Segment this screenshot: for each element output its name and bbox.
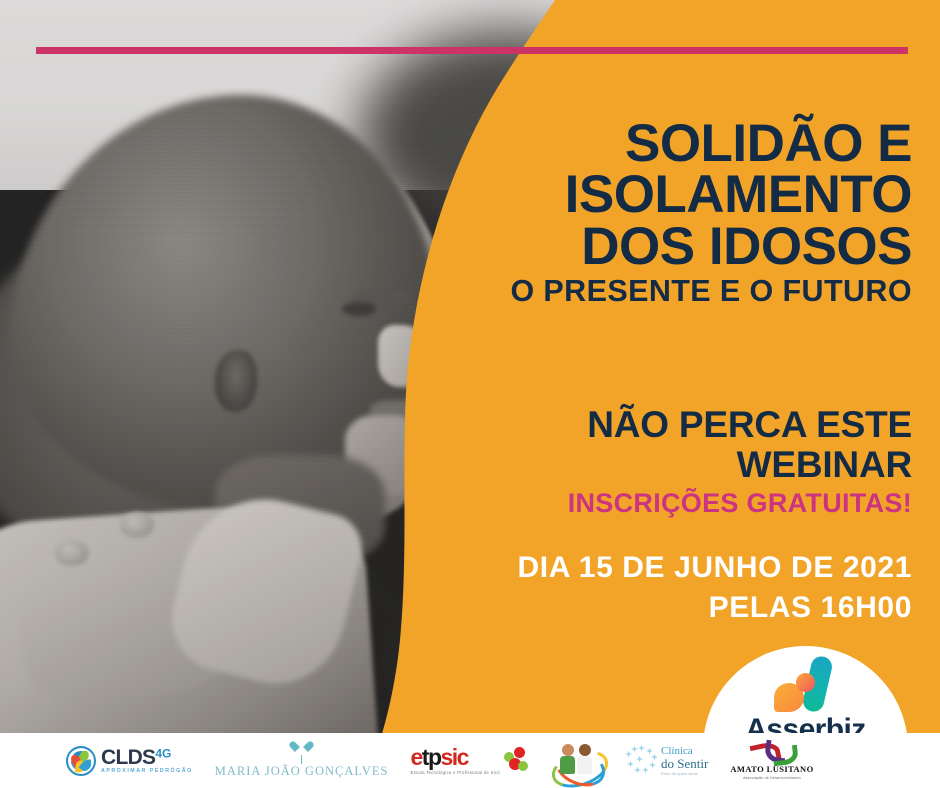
clds4g-name: CLDS	[101, 746, 155, 769]
etpsic-part-3: sic	[441, 744, 468, 770]
amato-lusitano-name: AMATO LUSITANO	[730, 764, 813, 774]
partner-logo-two-kids	[551, 741, 603, 781]
etpsic-part-1: e	[410, 744, 421, 770]
event-date: DIA 15 DE JUNHO DE 2021	[392, 548, 912, 588]
partner-logo-etpsic: etpsic Escola Tecnológica e Profissional…	[410, 746, 529, 775]
heart-stem-icon	[301, 755, 303, 764]
free-registration-text: INSCRIÇÕES GRATUITAS!	[392, 488, 912, 519]
partner-logos: CLDS4G APROXIMAR PEDRÓGÃO MARIA JOÃO GON…	[0, 733, 814, 788]
webinar-poster: SOLIDÃO E ISOLAMENTO DOS IDOSOS O PRESEN…	[0, 0, 940, 788]
clinica-birds-icon	[625, 745, 659, 777]
headline-line-3: DOS IDOSOS	[392, 221, 912, 272]
partner-logo-clinica-do-sentir: Clínica do Sentir Perto de quem sente	[625, 745, 708, 777]
partner-logo-clds4g: CLDS4G APROXIMAR PEDRÓGÃO	[66, 746, 193, 776]
etpsic-part-2: tp	[422, 744, 441, 770]
clinica-text: Clínica do Sentir Perto de quem sente	[661, 746, 708, 776]
amato-ribbon-icon	[751, 741, 793, 763]
partner-logo-maria-joao-goncalves: MARIA JOÃO GONÇALVES	[215, 742, 389, 779]
maria-joao-goncalves-name: MARIA JOÃO GONÇALVES	[215, 764, 389, 779]
kid-figure-left-icon	[560, 744, 576, 774]
headline-block: SOLIDÃO E ISOLAMENTO DOS IDOSOS O PRESEN…	[392, 118, 912, 307]
headline-line-1: SOLIDÃO E	[392, 118, 912, 169]
asserbiz-mark-icon	[768, 656, 844, 712]
asserbiz-dot-shape	[796, 673, 815, 692]
clds4g-circle-icon	[66, 746, 96, 776]
clds4g-petals-icon	[72, 751, 91, 770]
partner-logo-amato-lusitano: AMATO LUSITANO Associação de Desenvolvim…	[730, 741, 813, 780]
kid-figure-right-icon	[577, 744, 593, 774]
callout-line-2: WEBINAR	[392, 445, 912, 485]
clinica-line-1: Clínica	[661, 746, 708, 757]
callout-line-1: NÃO PERCA ESTE	[392, 405, 912, 445]
clds4g-suffix: 4G	[155, 747, 171, 761]
etpsic-subtitle: Escola Tecnológica e Profissional de Sic…	[410, 771, 500, 775]
callout-block: NÃO PERCA ESTE WEBINAR INSCRIÇÕES GRATUI…	[392, 405, 912, 519]
amato-lusitano-subtitle: Associação de Desenvolvimento	[743, 776, 801, 780]
event-time: PELAS 16H00	[392, 588, 912, 628]
datetime-block: DIA 15 DE JUNHO DE 2021 PELAS 16H00	[392, 548, 912, 627]
etpsic-text: etpsic Escola Tecnológica e Profissional…	[410, 746, 500, 775]
heart-icon	[295, 742, 308, 754]
clinica-line-2: do Sentir	[661, 757, 708, 770]
partner-logo-strip: CLDS4G APROXIMAR PEDRÓGÃO MARIA JOÃO GON…	[0, 733, 940, 788]
etpsic-dots-icon	[503, 747, 529, 773]
clds4g-subtitle: APROXIMAR PEDRÓGÃO	[101, 769, 193, 774]
top-accent-rule	[36, 47, 908, 54]
clds4g-text: CLDS4G APROXIMAR PEDRÓGÃO	[101, 747, 193, 774]
headline-line-2: ISOLAMENTO	[392, 169, 912, 220]
headline-subtitle: O PRESENTE E O FUTURO	[392, 275, 912, 307]
clinica-subtitle: Perto de quem sente	[661, 772, 708, 776]
